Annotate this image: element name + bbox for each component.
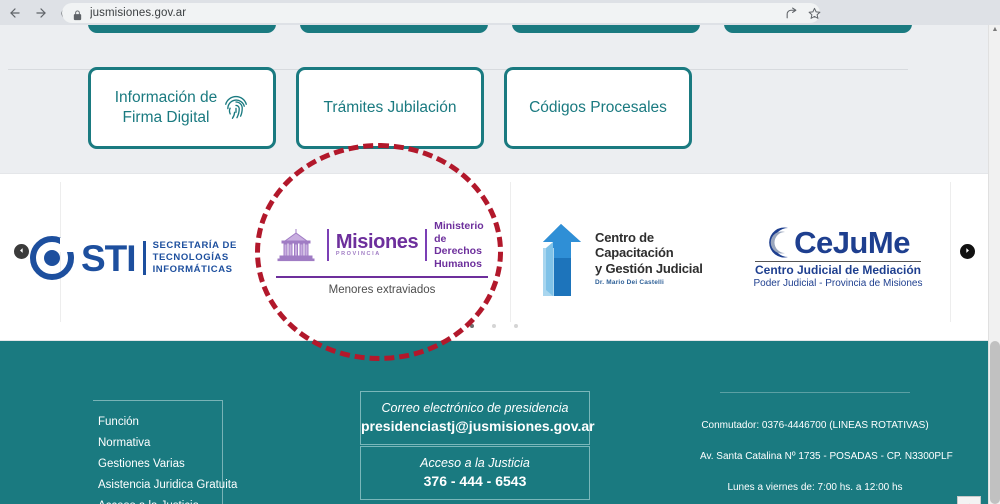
- card-label: Trámites Jubilación: [324, 98, 457, 118]
- quick-access-cards: Información de Firma Digital: [88, 67, 692, 149]
- site-footer: Función Normativa Gestiones Varias Asist…: [0, 341, 988, 504]
- clipped-button-row: [88, 25, 912, 33]
- mdh-caption: Menores extraviados: [276, 284, 488, 296]
- sti-subtitle-line3: INFORMÁTICAS: [153, 264, 237, 276]
- sti-divider: [143, 241, 146, 275]
- footer-email-label: Correo electrónico de presidencia: [361, 400, 589, 417]
- lock-icon: [72, 8, 83, 19]
- ccgj-subtitle: Dr. Mario Dei Castelli: [595, 279, 735, 286]
- upward-arrow-icon: [535, 218, 591, 298]
- footer-contact-divider: [720, 392, 910, 393]
- fingerprint-icon: [223, 93, 249, 123]
- carousel-dot-1[interactable]: [470, 324, 474, 328]
- card-label-line1: Información de: [115, 88, 218, 108]
- mdh-ministry-line3: Humanos: [434, 258, 492, 271]
- footer-link-funcion[interactable]: Función: [93, 412, 222, 433]
- carousel-separator: [510, 182, 511, 322]
- footer-email-value: presidenciastj@jusmisiones.gov.ar: [361, 417, 589, 436]
- cejume-subtitle-2: Poder Judicial - Provincia de Misiones: [754, 277, 923, 290]
- footer-link-acceso-justicia[interactable]: Acceso a la Justicia: [93, 496, 222, 504]
- page-scrollbar[interactable]: ▲: [988, 25, 1000, 504]
- quick-access-section: Información de Firma Digital: [0, 25, 988, 173]
- clipped-button[interactable]: [300, 25, 488, 33]
- logo-carousel: STI SECRETARÍA DE TECNOLOGÍAS INFORMÁTIC…: [0, 173, 988, 341]
- sti-emblem-icon: [30, 236, 74, 280]
- cejume-subtitle-1: Centro Judicial de Mediación: [755, 263, 921, 277]
- ccgj-title-line1: Centro de Capacitación: [595, 230, 735, 261]
- card-label-line2: Firma Digital: [115, 108, 218, 128]
- star-icon[interactable]: [808, 7, 821, 20]
- footer-link-normativa[interactable]: Normativa: [93, 433, 222, 454]
- carousel-next-button[interactable]: [960, 244, 975, 259]
- mdh-ministry-line1: Ministerio: [434, 220, 492, 233]
- chevron-left-icon: [18, 247, 25, 256]
- cejume-divider: [755, 261, 921, 262]
- share-icon[interactable]: [785, 7, 798, 20]
- footer-phone-value: 376 - 444 - 6543: [361, 472, 589, 491]
- card-codigos-procesales[interactable]: Códigos Procesales: [504, 67, 692, 149]
- forward-button[interactable]: [30, 2, 52, 24]
- mdh-province-sub: PROVINCIA: [336, 252, 418, 258]
- footer-phone-label: Acceso a la Justicia: [361, 455, 589, 472]
- scroll-to-top-button[interactable]: [957, 496, 981, 504]
- mdh-divider-2: [425, 229, 427, 261]
- clipped-button[interactable]: [512, 25, 700, 33]
- omnibox-actions: [785, 3, 845, 23]
- browser-toolbar: jusmisiones.gov.ar: [0, 0, 1000, 25]
- footer-email-box[interactable]: Correo electrónico de presidencia presid…: [360, 391, 590, 445]
- logo-sti[interactable]: STI SECRETARÍA DE TECNOLOGÍAS INFORMÁTIC…: [30, 174, 250, 342]
- page-viewport: Información de Firma Digital: [0, 25, 1000, 504]
- cejume-acronym: CeJuMe: [794, 227, 910, 258]
- mdh-province: Misiones: [336, 232, 418, 252]
- ccgj-text-block: Centro de Capacitación y Gestión Judicia…: [595, 230, 735, 287]
- carousel-dot-3[interactable]: [514, 324, 518, 328]
- footer-contact-address: Av. Santa Catalina Nº 1735 - POSADAS - C…: [700, 441, 930, 472]
- card-tramites-jubilacion[interactable]: Trámites Jubilación: [296, 67, 484, 149]
- footer-phone-box[interactable]: Acceso a la Justicia 376 - 444 - 6543: [360, 446, 590, 500]
- footer-link-asistencia-juridica[interactable]: Asistencia Juridica Gratuita: [93, 475, 222, 496]
- footer-link-gestiones-varias[interactable]: Gestiones Varias: [93, 454, 222, 475]
- card-informacion-firma-digital[interactable]: Información de Firma Digital: [88, 67, 276, 149]
- logo-ministerio-derechos-humanos[interactable]: Misiones PROVINCIA Ministerio de Derecho…: [272, 174, 492, 342]
- url-text: jusmisiones.gov.ar: [90, 7, 186, 19]
- sti-subtitle-line2: TECNOLOGÍAS: [153, 252, 237, 264]
- carousel-prev-button[interactable]: [14, 244, 29, 259]
- carousel-dots: [0, 324, 988, 328]
- cejume-swoosh-icon: [766, 226, 796, 259]
- clipped-button[interactable]: [724, 25, 912, 33]
- mdh-divider-1: [327, 229, 329, 261]
- mdh-ministry-line2: de Derechos: [434, 233, 492, 258]
- ccgj-title-line2: y Gestión Judicial: [595, 261, 735, 277]
- footer-contact-info: Conmutador: 0376-4446700 (LINEAS ROTATIV…: [700, 392, 930, 503]
- carousel-dot-2[interactable]: [492, 324, 496, 328]
- mdh-province-block: Misiones PROVINCIA: [336, 232, 418, 258]
- sti-subtitle: SECRETARÍA DE TECNOLOGÍAS INFORMÁTICAS: [153, 240, 237, 276]
- forward-arrow-icon: [34, 6, 48, 20]
- address-bar[interactable]: jusmisiones.gov.ar: [62, 3, 820, 23]
- mdh-ministry-block: Ministerio de Derechos Humanos: [434, 220, 492, 270]
- clipped-button[interactable]: [88, 25, 276, 33]
- back-arrow-icon: [8, 6, 22, 20]
- footer-menu: Función Normativa Gestiones Varias Asist…: [93, 400, 223, 504]
- chevron-right-icon: [964, 247, 971, 256]
- footer-contact-hours: Lunes a viernes de: 7:00 hs. a 12:00 hs: [700, 472, 930, 503]
- sti-acronym: STI: [81, 240, 136, 277]
- footer-contact-switchboard: Conmutador: 0376-4446700 (LINEAS ROTATIV…: [700, 410, 930, 441]
- government-building-icon: [272, 228, 320, 262]
- logo-centro-capacitacion[interactable]: Centro de Capacitación y Gestión Judicia…: [535, 174, 735, 342]
- sti-subtitle-line1: SECRETARÍA DE: [153, 240, 237, 252]
- card-label: Información de Firma Digital: [115, 88, 218, 128]
- carousel-separator: [950, 182, 951, 322]
- ccgj-title: Centro de Capacitación y Gestión Judicia…: [595, 230, 735, 277]
- logo-cejume[interactable]: CeJuMe Centro Judicial de Mediación Pode…: [738, 174, 938, 342]
- mdh-underline: [276, 276, 488, 278]
- card-label: Códigos Procesales: [529, 98, 667, 118]
- scrollbar-thumb[interactable]: [990, 341, 1000, 504]
- back-button[interactable]: [4, 2, 26, 24]
- scrollbar-up-arrow[interactable]: ▲: [991, 26, 999, 34]
